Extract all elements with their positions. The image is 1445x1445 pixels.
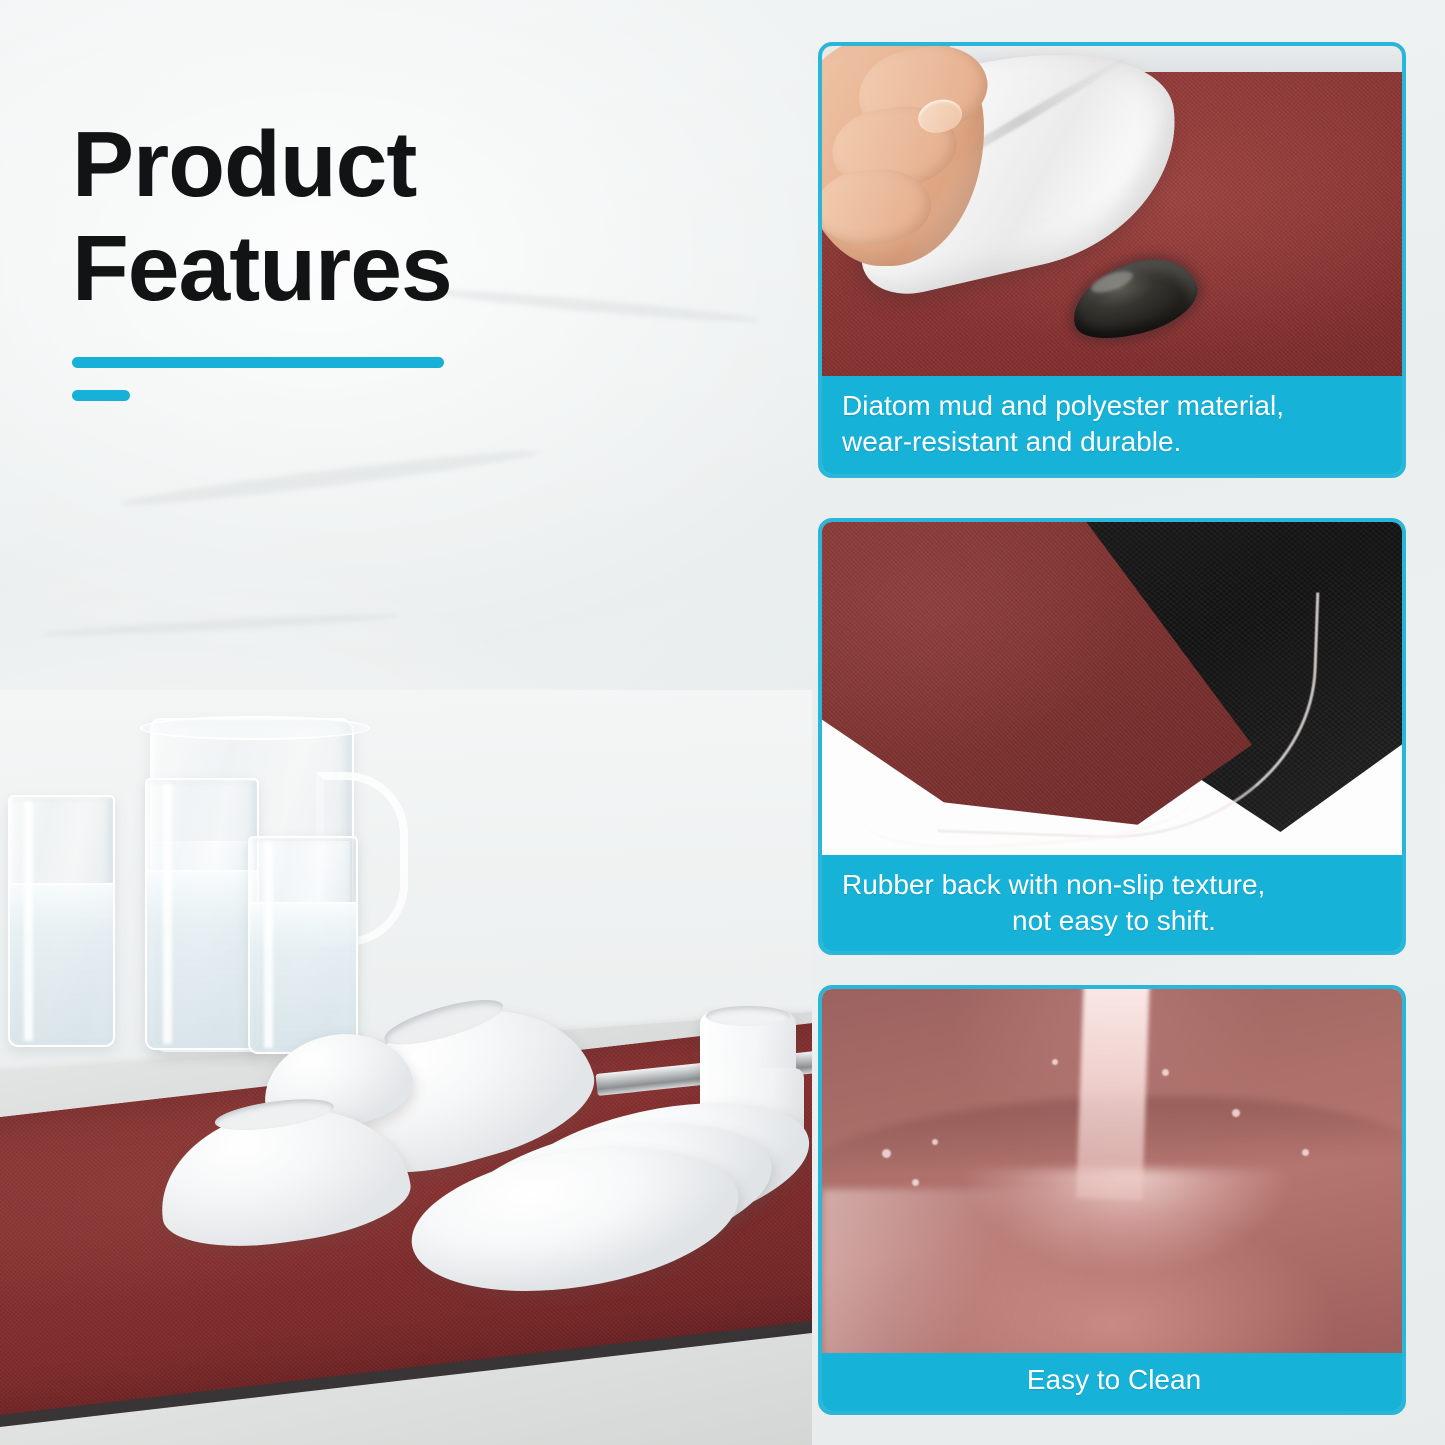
feature-panel-material: Diatom mud and polyester material, wear-…	[818, 42, 1406, 478]
water-bead	[912, 1179, 919, 1186]
page-title-line1: Product	[72, 112, 416, 216]
drinking-glass	[145, 778, 259, 1050]
caption-line-1: Easy to Clean	[1027, 1364, 1201, 1395]
product-feature-infographic: Product Features	[0, 0, 1445, 1445]
caption-line-2: wear-resistant and durable.	[842, 426, 1181, 457]
caption-line-1: Diatom mud and polyester material,	[842, 390, 1284, 421]
feature-caption-rubber-back: Rubber back with non-slip texture, not e…	[822, 855, 1402, 951]
caption-line-2: not easy to shift.	[842, 903, 1386, 939]
accent-rule-long	[72, 357, 444, 368]
glass-highlight	[163, 784, 172, 1044]
water-bead	[1232, 1109, 1240, 1117]
feature-photo-rubber-back	[822, 522, 1402, 855]
water-stream	[1076, 989, 1150, 1200]
caption-line-1: Rubber back with non-slip texture,	[842, 869, 1265, 900]
water-bead	[1162, 1069, 1169, 1076]
water-sheen	[822, 1189, 1082, 1353]
page-title: Product Features	[72, 112, 772, 320]
feature-panel-easy-clean: Easy to Clean	[818, 985, 1406, 1415]
page-title-line2: Features	[72, 216, 772, 320]
pitcher-rim	[140, 716, 370, 740]
glass-highlight	[24, 801, 33, 1041]
feature-photo-easy-clean	[822, 989, 1402, 1353]
water-bead	[1052, 1059, 1058, 1065]
drinking-glass	[8, 795, 115, 1047]
feature-caption-material: Diatom mud and polyester material, wear-…	[822, 376, 1402, 474]
accent-rule-short	[72, 390, 130, 401]
water-bead	[882, 1149, 891, 1158]
feature-photo-material	[822, 46, 1402, 376]
glass-highlight	[264, 842, 273, 1048]
main-product-photo	[0, 690, 812, 1445]
feature-caption-easy-clean: Easy to Clean	[822, 1353, 1402, 1411]
water-bead	[1302, 1149, 1309, 1156]
water-bead	[932, 1139, 938, 1145]
drinking-glass	[248, 836, 358, 1054]
feature-panel-rubber-back: Rubber back with non-slip texture, not e…	[818, 518, 1406, 955]
